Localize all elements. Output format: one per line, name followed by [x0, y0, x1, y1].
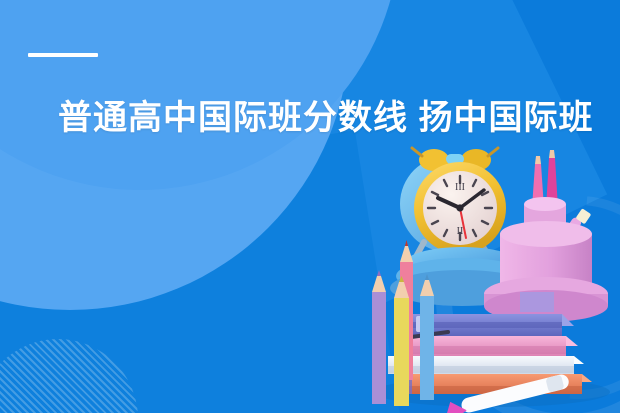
decorative-rule	[28, 53, 98, 57]
cup-body-top	[500, 221, 592, 247]
page-title: 普通高中国际班分数线 扬中国际班	[58, 98, 618, 138]
alarm-clock: III II	[400, 148, 506, 264]
cup-inner-rim	[524, 197, 566, 211]
clock-center-pin	[456, 204, 463, 211]
illustration-svg: III II	[352, 146, 620, 413]
clock-numeral-xii: III	[455, 182, 465, 193]
education-banner: 普通高中国际班分数线 扬中国际班	[0, 0, 620, 413]
clock-bell-stem-right	[488, 148, 498, 156]
book-white-edge	[388, 366, 574, 373]
book-pink-edge	[394, 346, 566, 354]
pencil-cup	[484, 150, 608, 322]
book-blue-edge	[412, 322, 562, 328]
cup-base-accent	[520, 292, 554, 312]
clock-numeral-vi: II	[457, 226, 464, 237]
pencil-yellow	[394, 276, 409, 406]
cup-pencil-pink-tip	[535, 156, 541, 164]
pencil-blue	[420, 274, 434, 400]
clock-bell-stem-left	[412, 148, 422, 156]
pencil-purple	[372, 270, 386, 404]
cup-pencil-magenta-tip	[549, 150, 555, 158]
study-desk-illustration: III II	[352, 146, 620, 413]
